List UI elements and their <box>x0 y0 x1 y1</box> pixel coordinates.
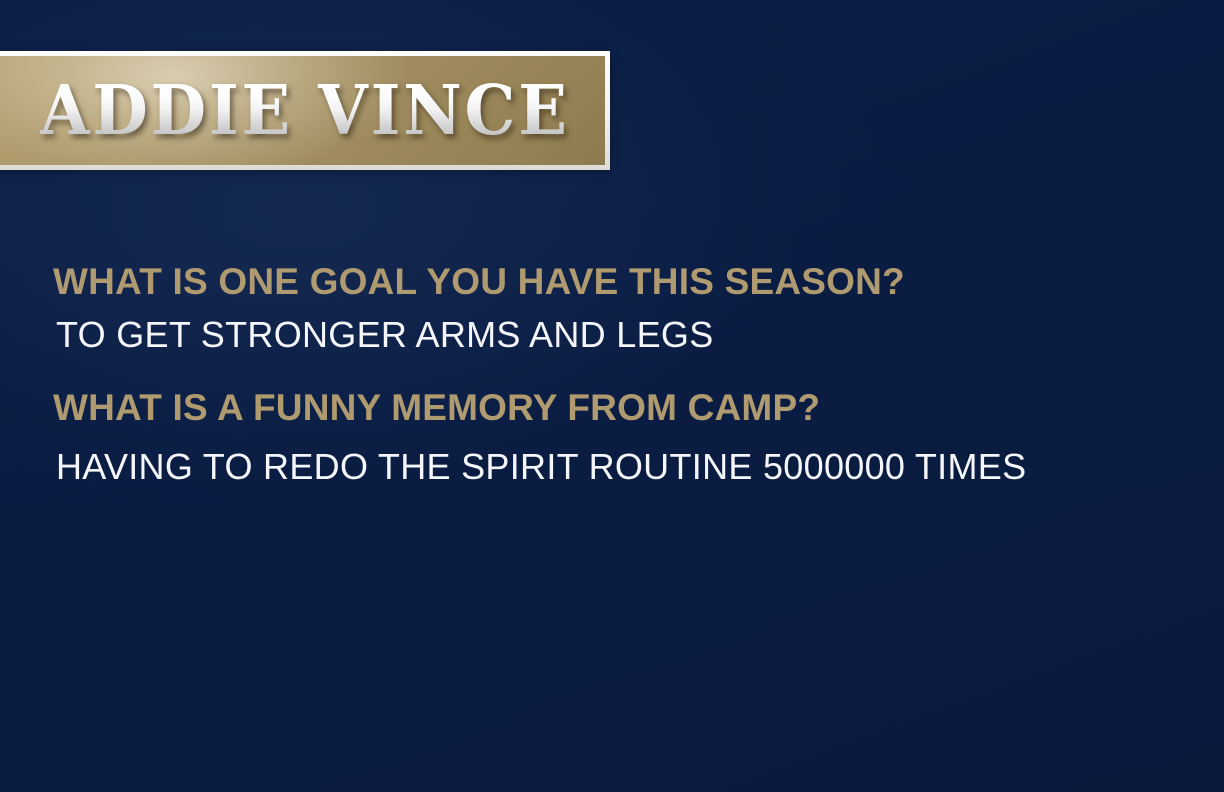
qa-question: WHAT IS A FUNNY MEMORY FROM CAMP? <box>0 389 1180 426</box>
player-name-banner-fill: ADDIE VINCE <box>0 56 605 165</box>
qa-item: WHAT IS A FUNNY MEMORY FROM CAMP? HAVING… <box>0 389 1180 485</box>
qa-item: WHAT IS ONE GOAL YOU HAVE THIS SEASON? T… <box>0 263 1180 353</box>
qa-question: WHAT IS ONE GOAL YOU HAVE THIS SEASON? <box>0 263 1180 300</box>
player-name: ADDIE VINCE <box>40 77 570 145</box>
qa-block: WHAT IS ONE GOAL YOU HAVE THIS SEASON? T… <box>0 263 1180 485</box>
player-profile-slide: ADDIE VINCE WHAT IS ONE GOAL YOU HAVE TH… <box>0 0 1224 792</box>
qa-answer: HAVING TO REDO THE SPIRIT ROUTINE 500000… <box>0 449 1180 485</box>
player-name-banner: ADDIE VINCE <box>0 51 610 170</box>
qa-answer: TO GET STRONGER ARMS AND LEGS <box>0 317 1180 353</box>
